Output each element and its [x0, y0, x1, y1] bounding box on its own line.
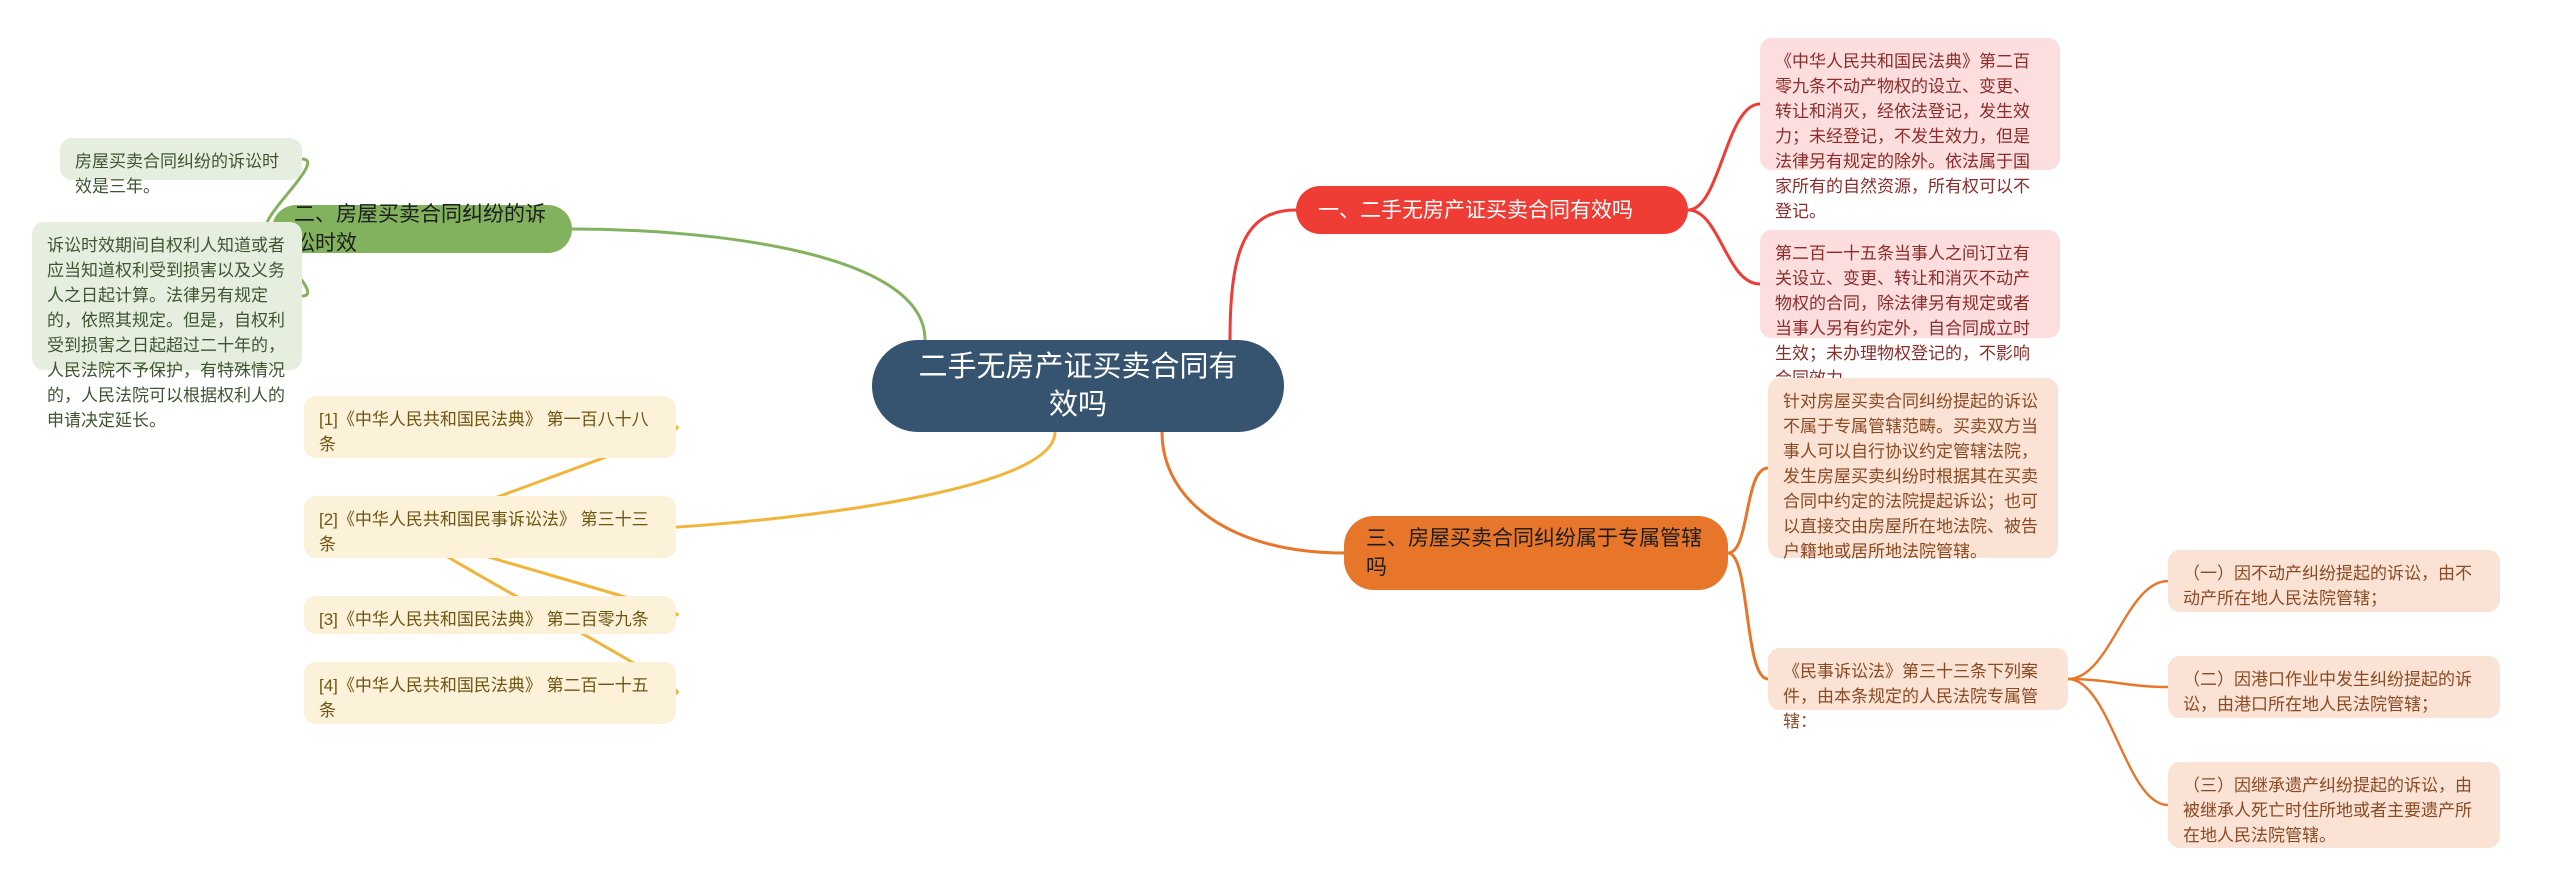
branch-node-contract-validity[interactable]: 一、二手无房产证买卖合同有效吗	[1296, 186, 1688, 234]
mindmap-canvas: 二手无房产证买卖合同有效吗 一、二手无房产证买卖合同有效吗 《中华人民共和国民法…	[0, 0, 2560, 890]
leaf-node[interactable]: 房屋买卖合同纠纷的诉讼时效是三年。	[60, 138, 302, 180]
branch-node-limitation-period[interactable]: 二、房屋买卖合同纠纷的诉讼时效	[272, 205, 572, 253]
sub-leaf-node[interactable]: （一）因不动产纠纷提起的诉讼，由不动产所在地人民法院管辖；	[2168, 550, 2500, 612]
leaf-node[interactable]: 第二百一十五条当事人之间订立有关设立、变更、转让和消灭不动产物权的合同，除法律另…	[1760, 230, 2060, 338]
sub-leaf-node[interactable]: （二）因港口作业中发生纠纷提起的诉讼，由港口所在地人民法院管辖；	[2168, 656, 2500, 718]
leaf-node[interactable]: 诉讼时效期间自权利人知道或者应当知道权利受到损害以及义务人之日起计算。法律另有规…	[32, 222, 302, 370]
leaf-node[interactable]: [2]《中华人民共和国民事诉讼法》 第三十三条	[304, 496, 676, 558]
leaf-node[interactable]: [3]《中华人民共和国民法典》 第二百零九条	[304, 596, 676, 634]
leaf-node[interactable]: [1]《中华人民共和国民法典》 第一百八十八条	[304, 396, 676, 458]
leaf-node[interactable]: [4]《中华人民共和国民法典》 第二百一十五条	[304, 662, 676, 724]
sub-leaf-node[interactable]: （三）因继承遗产纠纷提起的诉讼，由被继承人死亡时住所地或者主要遗产所在地人民法院…	[2168, 762, 2500, 848]
leaf-node[interactable]: 针对房屋买卖合同纠纷提起的诉讼不属于专属管辖范畴。买卖双方当事人可以自行协议约定…	[1768, 378, 2058, 558]
central-topic[interactable]: 二手无房产证买卖合同有效吗	[872, 340, 1284, 432]
leaf-node[interactable]: 《民事诉讼法》第三十三条下列案件，由本条规定的人民法院专属管辖：	[1768, 648, 2068, 710]
branch-node-exclusive-jurisdiction[interactable]: 三、房屋买卖合同纠纷属于专属管辖吗	[1344, 516, 1728, 590]
leaf-node[interactable]: 《中华人民共和国民法典》第二百零九条不动产物权的设立、变更、转让和消灭，经依法登…	[1760, 38, 2060, 170]
